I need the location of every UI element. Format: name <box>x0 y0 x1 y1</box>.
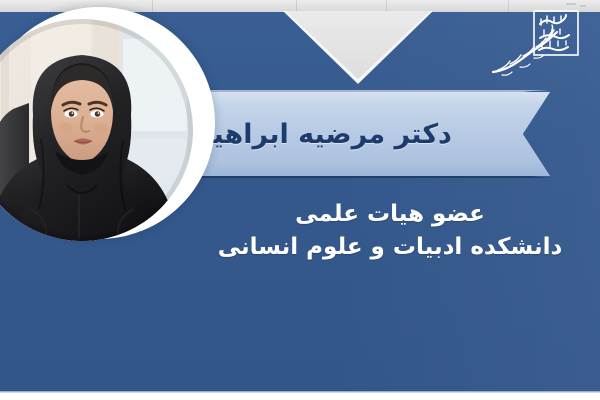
profile-banner-card: دکتر مرضیه ابراهیمی عضو هیات علمی دانشکد… <box>0 0 600 400</box>
portrait-illustration <box>0 19 193 241</box>
subtitle-faculty: دانشکده ادبیات و علوم انسانی <box>200 231 580 264</box>
bottom-strip <box>0 393 600 400</box>
subtitle-role: عضو هیات علمی <box>200 198 580 231</box>
avatar <box>0 19 193 241</box>
university-logo: دانشگاه شهید بهشتی روابط عمومی و اطلاع ر… <box>490 8 586 82</box>
subtitle-block: عضو هیات علمی دانشکده ادبیات و علوم انسا… <box>200 198 580 265</box>
shahid-beheshti-logo-icon: دانشگاه شهید بهشتی روابط عمومی و اطلاع ر… <box>490 8 586 82</box>
